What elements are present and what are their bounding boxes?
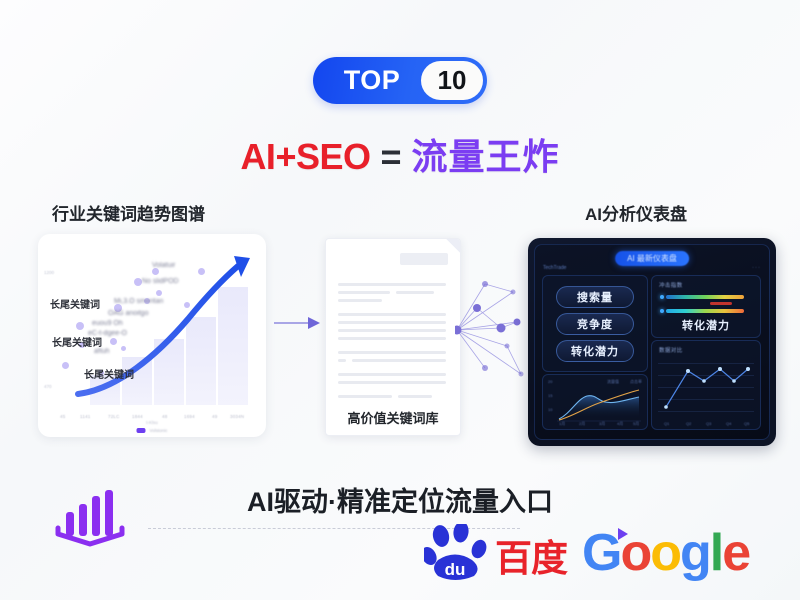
line-x-tick: Q1 xyxy=(664,421,669,426)
google-letter-l: l xyxy=(710,527,722,579)
dashboard-area-chart-panel: 20 15 10 流量值 点击率 xyxy=(542,374,648,430)
google-letter-e: e xyxy=(722,527,749,579)
chart-x-tick: 1844 xyxy=(132,414,143,419)
badge-number: 10 xyxy=(421,61,483,100)
google-letter-o2: o xyxy=(650,527,680,579)
google-letter-g1: G xyxy=(582,527,620,579)
badge-word: TOP xyxy=(313,65,421,96)
network-node xyxy=(511,290,516,295)
google-letter-g2: g xyxy=(680,527,710,579)
page-title: AI+SEO=流量王炸 xyxy=(0,128,800,180)
gauge-overlay-label: 转化潜力 xyxy=(682,317,730,333)
chart-x-tick: 1141 xyxy=(80,414,90,419)
chart-node xyxy=(134,278,142,286)
doc-text-line xyxy=(338,359,346,362)
dashboard-line-chart-panel: 数据对比 Q1 Q2 xyxy=(651,340,761,430)
chart-node xyxy=(76,322,84,330)
legend-label: Volstonic xyxy=(149,428,167,433)
doc-text-line xyxy=(338,373,446,376)
slide-canvas: TOP 10 AI+SEO=流量王炸 行业关键词趋势图谱 AI分析仪表盘 xyxy=(0,0,800,600)
dashboard-metric-panel: 搜索量 竞争度 转化潜力 xyxy=(542,275,648,372)
dashboard-screen: AI 最新仪表盘 TechTrade ··· 搜索量 竞争度 转化潜力 20 1… xyxy=(534,244,770,440)
chart-node xyxy=(121,346,126,351)
baidu-wordmark: du xyxy=(445,560,466,579)
node-network-graph xyxy=(455,270,533,390)
chart-keyword-label: 长尾关键词 xyxy=(50,296,100,311)
network-node xyxy=(473,304,481,312)
gauge-panel-title: 冲击指数 xyxy=(659,281,683,289)
network-node xyxy=(482,365,488,371)
doc-text-line xyxy=(338,299,382,302)
network-node xyxy=(514,319,521,326)
doc-text-line xyxy=(338,313,446,316)
dashboard-header-pill: AI 最新仪表盘 xyxy=(615,251,689,266)
line-x-tick: Q2 xyxy=(686,421,691,426)
google-letter-o1: o xyxy=(620,527,650,579)
chart-x-tick: 3034N xyxy=(230,414,244,419)
chart-node xyxy=(198,268,205,275)
chart-keyword-label: 长尾关键词 xyxy=(84,366,134,381)
google-logo: Google xyxy=(582,527,749,579)
chart-x-tick: 45 xyxy=(60,414,65,419)
ai-dashboard-device: AI 最新仪表盘 TechTrade ··· 搜索量 竞争度 转化潜力 20 1… xyxy=(528,238,776,446)
baidu-paw-icon: du xyxy=(424,524,494,582)
doc-text-line xyxy=(352,359,446,362)
metric-pill-conversion[interactable]: 转化潜力 xyxy=(556,340,634,362)
doc-text-line xyxy=(338,291,390,294)
chart-blur-label: Mi,3.O smoritan xyxy=(114,298,163,305)
chart-node xyxy=(156,290,162,296)
chart-blur-label: aftuh xyxy=(94,348,110,355)
section-label-right: AI分析仪表盘 xyxy=(585,200,687,225)
doc-card-title: 高价值关键词库 xyxy=(326,408,460,427)
metric-pill-search-volume[interactable]: 搜索量 xyxy=(556,286,634,308)
chart-blur-label: Volatuir xyxy=(152,262,175,269)
doc-text-line xyxy=(396,291,434,294)
doc-text-line xyxy=(338,395,392,398)
network-node xyxy=(519,372,524,377)
line-point xyxy=(702,379,706,383)
legend-swatch xyxy=(136,428,145,433)
line-point xyxy=(686,369,690,373)
chart-blur-label: No slidPOD xyxy=(142,278,179,285)
network-node xyxy=(455,326,462,335)
area-x-tick: 2月 xyxy=(579,421,585,427)
title-right: 流量王炸 xyxy=(412,136,560,177)
line-point xyxy=(718,367,722,371)
page-fold-icon xyxy=(446,239,460,253)
title-left: AI+SEO xyxy=(240,136,370,177)
doc-text-line xyxy=(338,283,446,286)
gauge-bar-conversion xyxy=(666,309,744,313)
doc-header-block xyxy=(400,253,448,265)
gauge-bar-impact xyxy=(666,295,744,299)
network-node xyxy=(497,324,506,333)
metric-pill-competition[interactable]: 竞争度 xyxy=(556,313,634,335)
doc-text-line xyxy=(398,395,432,398)
line-x-tick: Q3 xyxy=(706,421,711,426)
chart-y-tick: 470 xyxy=(44,384,52,389)
chart-x-tick: 49 xyxy=(212,414,217,419)
doc-text-line xyxy=(338,321,446,324)
line-point xyxy=(664,405,668,409)
line-point xyxy=(746,367,750,371)
baidu-logo: du 百度 xyxy=(424,524,567,582)
area-x-tick: 4月 xyxy=(617,421,623,427)
chart-blur-label: euou9 Oh xyxy=(92,320,123,327)
area-x-tick: 1月 xyxy=(559,421,565,427)
area-x-tick: 5月 xyxy=(633,421,639,427)
chart-x-tick: 72LC xyxy=(108,414,120,419)
gauge-start-dot xyxy=(660,295,664,299)
doc-text-line xyxy=(338,381,446,384)
area-x-tick: 3月 xyxy=(599,421,605,427)
line-chart-svg xyxy=(652,341,760,429)
flow-arrow-icon xyxy=(274,316,322,330)
search-engine-logos: du 百度 Google xyxy=(424,522,749,584)
keyword-library-doc-card: 高价值关键词库 xyxy=(325,238,461,436)
top-rank-badge: TOP 10 xyxy=(313,57,487,104)
line-x-tick: Q4 xyxy=(726,421,731,426)
keyword-trend-chart-card: Volatuir No slidPOD Mi,3.O smoritan OAG … xyxy=(38,234,266,437)
chart-blur-label: OAG anoitgo xyxy=(108,310,148,317)
dashboard-brand-label: TechTrade xyxy=(543,265,566,271)
doc-text-line xyxy=(338,351,446,354)
baidu-text-logo: 百度 xyxy=(495,540,567,582)
doc-text-line xyxy=(338,329,446,332)
title-operator: = xyxy=(381,136,402,177)
chart-caption: t-Klsu xyxy=(146,420,158,425)
chart-node xyxy=(110,338,117,345)
doc-text-line xyxy=(338,337,446,340)
chart-node xyxy=(62,362,69,369)
chart-node xyxy=(152,268,159,275)
line-point xyxy=(732,379,736,383)
chart-x-tick: 48 xyxy=(162,414,167,419)
gauge-marker xyxy=(710,302,732,305)
network-node xyxy=(505,344,510,349)
gauge-start-dot xyxy=(660,309,664,313)
dashboard-menu-icon[interactable]: ··· xyxy=(752,265,761,271)
bar-chart-pedestal-icon xyxy=(48,482,134,548)
chart-node xyxy=(184,302,190,308)
chart-x-tick: 1694 xyxy=(184,414,195,419)
chart-legend: Volstonic xyxy=(136,428,167,433)
chart-plot-area: Volatuir No slidPOD Mi,3.O smoritan OAG … xyxy=(38,234,266,437)
chart-y-tick: 1200 xyxy=(44,270,54,275)
network-node xyxy=(482,281,488,287)
dashboard-gauge-panel: 冲击指数 转化潜力 xyxy=(651,275,761,338)
chart-keyword-label: 长尾关键词 xyxy=(52,334,102,349)
section-label-left: 行业关键词趋势图谱 xyxy=(52,200,205,225)
line-x-tick: Q5 xyxy=(744,421,749,426)
